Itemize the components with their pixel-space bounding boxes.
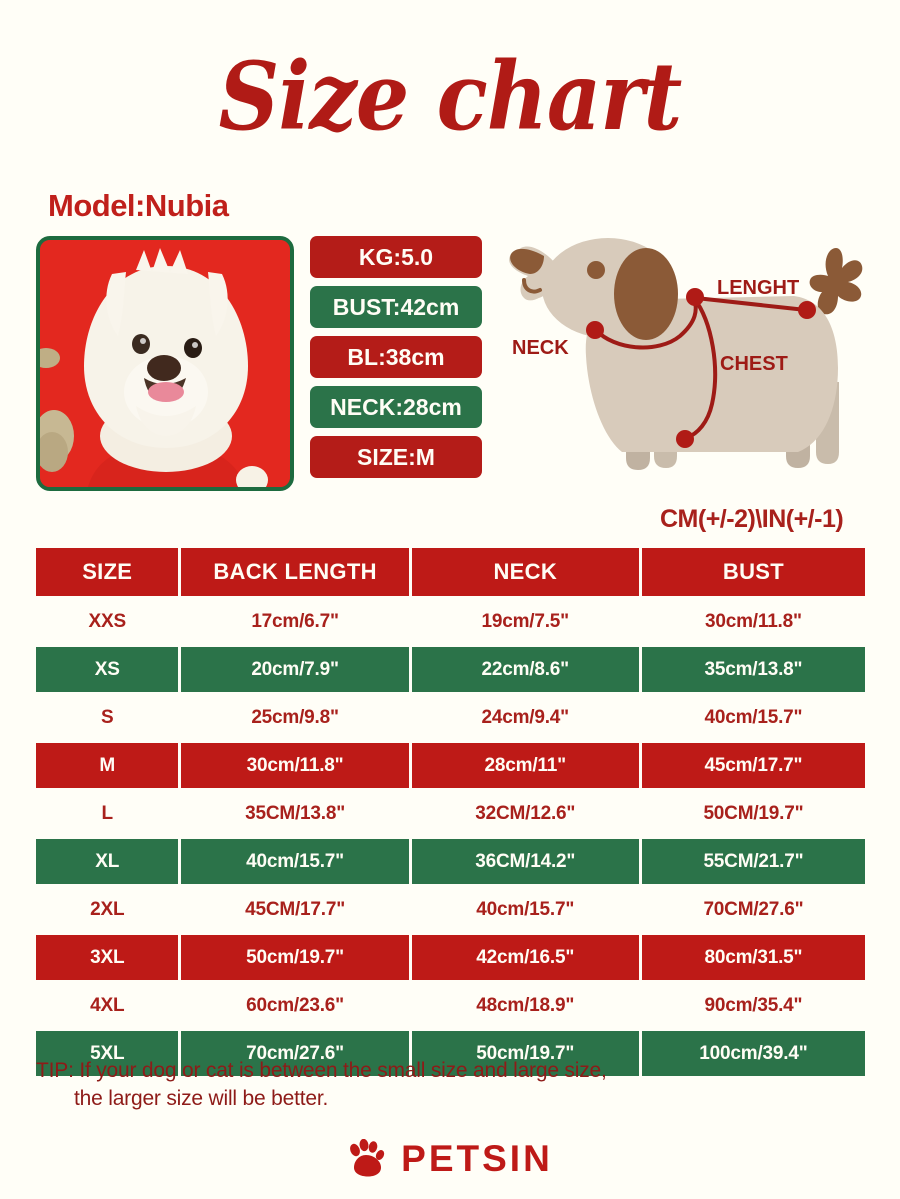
paw-print-icon: [347, 1139, 389, 1179]
size-chart-page: Size chart Model:Nubia: [0, 0, 900, 1199]
header-size: SIZE: [36, 548, 178, 596]
table-body: XXS17cm/6.7"19cm/7.5"30cm/11.8"XS20cm/7.…: [36, 599, 865, 1076]
cell-value: 48cm/18.9": [412, 983, 639, 1028]
cell-value: 45CM/17.7": [181, 887, 408, 932]
cell-value: 90cm/35.4": [642, 983, 865, 1028]
cell-value: 42cm/16.5": [412, 935, 639, 980]
cell-value: 80cm/31.5": [642, 935, 865, 980]
cell-value: 70CM/27.6": [642, 887, 865, 932]
tip-note: TIP: If your dog or cat is between the s…: [36, 1057, 607, 1114]
cell-value: 20cm/7.9": [181, 647, 408, 692]
badge-size: SIZE:M: [310, 436, 482, 478]
cell-size: S: [36, 695, 178, 740]
antler-tail-icon: [810, 248, 863, 314]
cell-value: 35CM/13.8": [181, 791, 408, 836]
cell-value: 22cm/8.6": [412, 647, 639, 692]
cell-value: 50CM/19.7": [642, 791, 865, 836]
diagram-label-length: LENGHT: [717, 277, 799, 299]
cell-size: 2XL: [36, 887, 178, 932]
table-row: 2XL45CM/17.7"40cm/15.7"70CM/27.6": [36, 887, 865, 932]
cell-value: 50cm/19.7": [181, 935, 408, 980]
cell-size: XS: [36, 647, 178, 692]
table-row: XS20cm/7.9"22cm/8.6"35cm/13.8": [36, 647, 865, 692]
table-row: XL40cm/15.7"36CM/14.2"55CM/21.7": [36, 839, 865, 884]
size-table: SIZE BACK LENGTH NECK BUST XXS17cm/6.7"1…: [36, 548, 865, 1079]
table-header-row: SIZE BACK LENGTH NECK BUST: [36, 548, 865, 596]
cell-value: 32CM/12.6": [412, 791, 639, 836]
page-title: Size chart: [0, 0, 900, 143]
diagram-label-neck: NECK: [512, 337, 569, 359]
brand-name: PETSIN: [401, 1138, 553, 1180]
measurement-badges: KG:5.0 BUST:42cm BL:38cm NECK:28cm SIZE:…: [310, 236, 482, 478]
table-row: XXS17cm/6.7"19cm/7.5"30cm/11.8": [36, 599, 865, 644]
cell-value: 19cm/7.5": [412, 599, 639, 644]
model-photo-frame: [36, 236, 294, 491]
dog-measurement-diagram: LENGHT NECK CHEST: [498, 218, 888, 508]
header-neck: NECK: [412, 548, 639, 596]
cell-value: 36CM/14.2": [412, 839, 639, 884]
cell-value: 17cm/6.7": [181, 599, 408, 644]
badge-bl: BL:38cm: [310, 336, 482, 378]
cell-value: 40cm/15.7": [181, 839, 408, 884]
table-row: 4XL60cm/23.6"48cm/18.9"90cm/35.4": [36, 983, 865, 1028]
cell-value: 28cm/11": [412, 743, 639, 788]
table-row: S25cm/9.8"24cm/9.4"40cm/15.7": [36, 695, 865, 740]
marker-neck-icon: [586, 321, 604, 339]
footer-logo: PETSIN: [0, 1138, 900, 1180]
cell-value: 25cm/9.8": [181, 695, 408, 740]
diagram-label-chest: CHEST: [720, 353, 788, 375]
header-bust: BUST: [642, 548, 865, 596]
marker-chest-icon: [676, 430, 694, 448]
tolerance-note: CM(+/-2)\IN(+/-1): [660, 505, 843, 534]
cell-value: 30cm/11.8": [642, 599, 865, 644]
table-row: 3XL50cm/19.7"42cm/16.5"80cm/31.5": [36, 935, 865, 980]
badge-bust: BUST:42cm: [310, 286, 482, 328]
badge-neck: NECK:28cm: [310, 386, 482, 428]
cell-size: M: [36, 743, 178, 788]
cell-size: 4XL: [36, 983, 178, 1028]
header-back-length: BACK LENGTH: [181, 548, 408, 596]
model-heading: Model:Nubia: [48, 188, 229, 224]
cell-value: 24cm/9.4": [412, 695, 639, 740]
badge-kg: KG:5.0: [310, 236, 482, 278]
cell-value: 40cm/15.7": [412, 887, 639, 932]
cell-value: 40cm/15.7": [642, 695, 865, 740]
cell-value: 60cm/23.6": [181, 983, 408, 1028]
cell-value: 30cm/11.8": [181, 743, 408, 788]
tip-line-2: the larger size will be better.: [36, 1085, 607, 1113]
model-photo: [40, 240, 290, 487]
cell-size: XL: [36, 839, 178, 884]
tip-line-1: TIP: If your dog or cat is between the s…: [36, 1059, 607, 1082]
cell-size: 3XL: [36, 935, 178, 980]
cell-size: XXS: [36, 599, 178, 644]
marker-length-end-icon: [798, 301, 816, 319]
cell-value: 45cm/17.7": [642, 743, 865, 788]
table-row: L35CM/13.8"32CM/12.6"50CM/19.7": [36, 791, 865, 836]
cell-size: L: [36, 791, 178, 836]
table-row: M30cm/11.8"28cm/11"45cm/17.7": [36, 743, 865, 788]
cell-value: 55CM/21.7": [642, 839, 865, 884]
model-section: Model:Nubia: [0, 188, 900, 498]
marker-length-start-icon: [686, 288, 704, 306]
cell-value: 35cm/13.8": [642, 647, 865, 692]
cell-value: 100cm/39.4": [642, 1031, 865, 1076]
